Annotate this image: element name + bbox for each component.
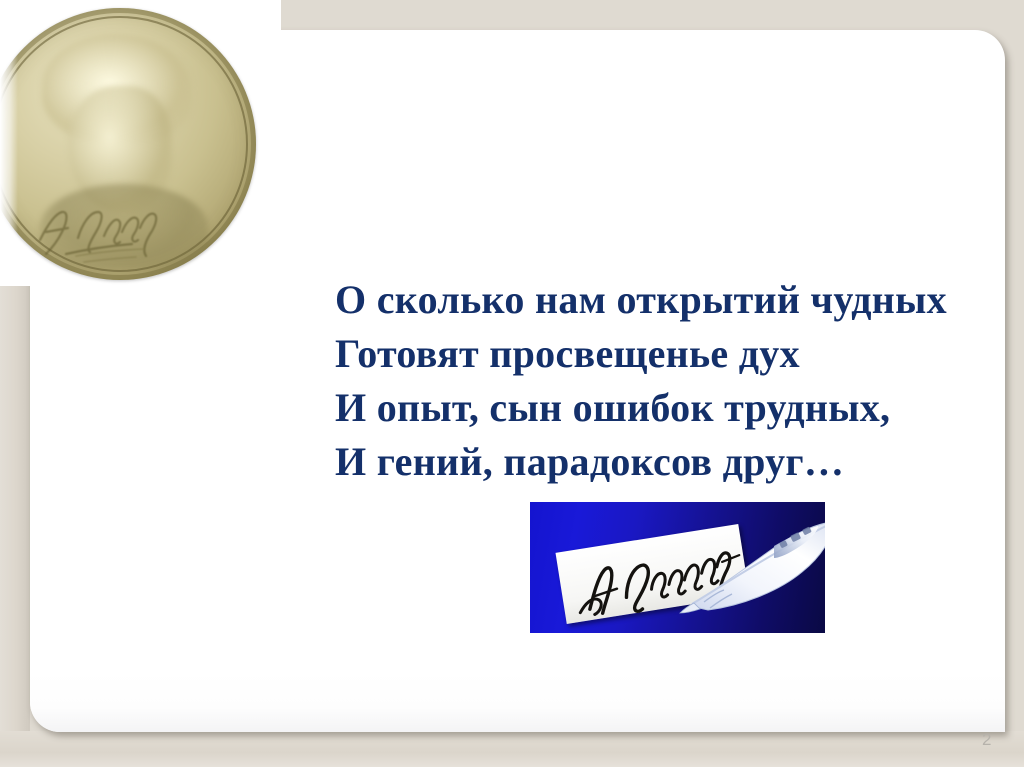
poem-text-block: О сколько нам открытий чудных Готовят пр… (335, 273, 1005, 489)
slide-root: О сколько нам открытий чудных Готовят пр… (0, 0, 1024, 767)
poem-line-4: И гений, парадоксов друг… (335, 435, 1005, 489)
coin-left-crop-fade (0, 0, 18, 286)
poem-line-3: И опыт, сын ошибок трудных, (335, 381, 1005, 435)
pushkin-signature-image (530, 502, 825, 633)
quill-pen-icon (678, 510, 825, 614)
page-number: 2 (982, 730, 991, 750)
pushkin-coin-image (0, 0, 281, 286)
coin-disc (0, 8, 256, 280)
coin-engraved-signature (32, 194, 192, 264)
poem-line-2: Готовят просвещенье дух (335, 327, 1005, 381)
signature-ink-strokes (561, 528, 756, 630)
card-bottom-sheen (30, 672, 1005, 732)
poem-line-1: О сколько нам открытий чудных (335, 273, 1005, 327)
background-bottom-sheen (0, 731, 1024, 767)
signature-paper (556, 524, 750, 624)
